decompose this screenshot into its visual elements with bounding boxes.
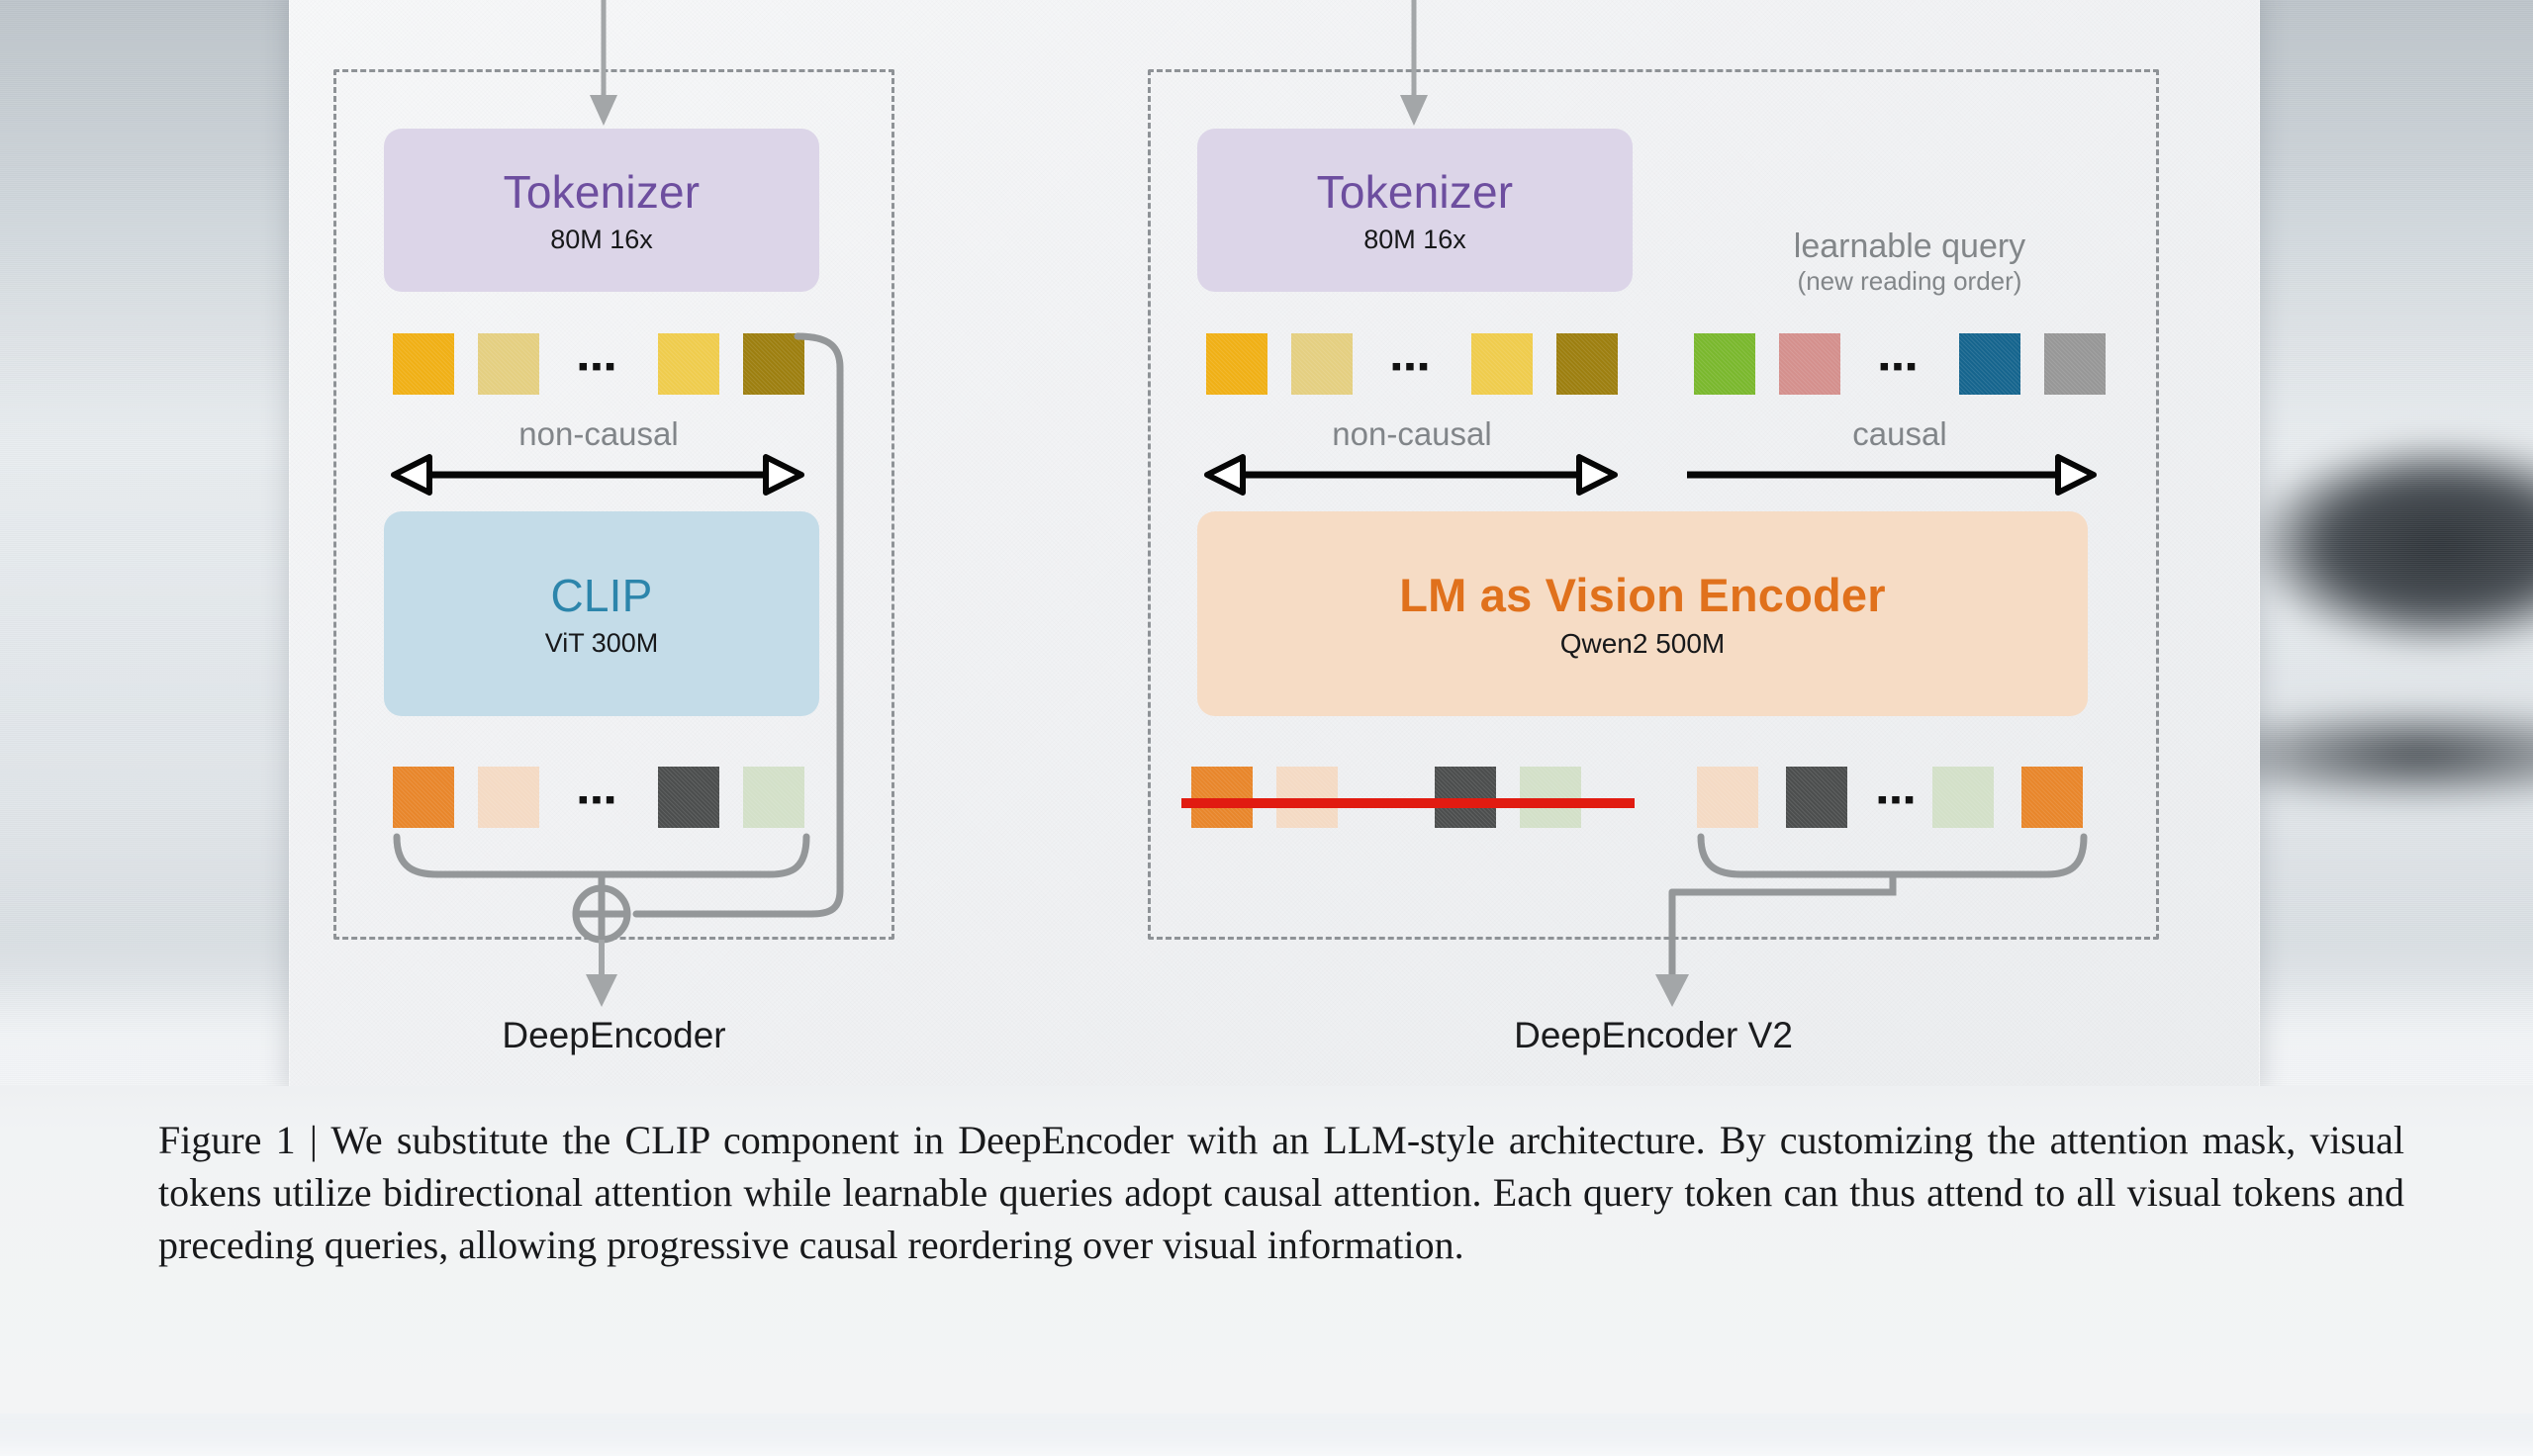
deepencoder-v2-noncausal-label: non-causal (1206, 415, 1618, 453)
kept-token-lightgreen (1932, 767, 1994, 828)
output-token-peach (478, 767, 539, 828)
query-token-pink (1779, 333, 1840, 395)
figure-caption-text: Figure 1 | We substitute the CLIP compon… (158, 1114, 2404, 1272)
input-token-amber (393, 333, 454, 395)
discarded-token-orange (1191, 767, 1253, 828)
query-token-gray (2044, 333, 2106, 395)
kept-token-peach (1697, 767, 1758, 828)
tokenizer-subtitle: 80M 16x (550, 225, 653, 255)
deepencoder-clip-box: CLIP ViT 300M (384, 511, 819, 716)
input-token-ellipsis: ▪▪▪ (1391, 352, 1432, 382)
output-token-orange (393, 767, 454, 828)
output-token-ellipsis: ▪▪▪ (578, 785, 618, 815)
query-token-ellipsis: ▪▪▪ (1879, 352, 1920, 382)
discarded-token-lightgreen (1520, 767, 1581, 828)
input-token-amber (1206, 333, 1267, 395)
kept-token-orange (2021, 767, 2083, 828)
figure-caption-band: Figure 1 | We substitute the CLIP compon… (0, 1086, 2533, 1413)
input-token-olive (1556, 333, 1618, 395)
deepencoder-panel-label: DeepEncoder (333, 1015, 894, 1056)
output-token-darkgray (658, 767, 719, 828)
learnable-query-line2: (new reading order) (1682, 266, 2137, 297)
kept-token-darkgray (1786, 767, 1847, 828)
lm-encoder-subtitle: Qwen2 500M (1560, 628, 1726, 660)
query-token-green (1694, 333, 1755, 395)
tokenizer-title: Tokenizer (504, 165, 701, 219)
tokenizer-subtitle: 80M 16x (1363, 225, 1466, 255)
clip-subtitle: ViT 300M (545, 628, 659, 659)
deepencoder-v2-encoder-box: LM as Vision Encoder Qwen2 500M (1197, 511, 2088, 716)
lm-encoder-title: LM as Vision Encoder (1399, 568, 1886, 622)
input-token-yellow (658, 333, 719, 395)
discarded-token-peach (1276, 767, 1338, 828)
input-token-khaki (478, 333, 539, 395)
deepencoder-v2-panel-label: DeepEncoder V2 (1148, 1015, 2159, 1056)
input-token-khaki (1291, 333, 1353, 395)
deepencoder-v2-causal-label: causal (1694, 415, 2106, 453)
learnable-query-line1: learnable query (1682, 227, 2137, 266)
deepencoder-v2-tokenizer-box: Tokenizer 80M 16x (1197, 129, 1633, 292)
kept-token-ellipsis: ▪▪▪ (1877, 785, 1918, 815)
learnable-query-label: learnable query (new reading order) (1682, 227, 2137, 297)
deepencoder-tokenizer-box: Tokenizer 80M 16x (384, 129, 819, 292)
output-token-lightgreen (743, 767, 804, 828)
input-token-yellow (1471, 333, 1533, 395)
tokenizer-title: Tokenizer (1317, 165, 1514, 219)
input-token-olive (743, 333, 804, 395)
discarded-token-darkgray (1435, 767, 1496, 828)
deepencoder-attention-label: non-causal (393, 415, 804, 453)
input-token-ellipsis: ▪▪▪ (578, 352, 618, 382)
query-token-teal (1959, 333, 2020, 395)
clip-title: CLIP (550, 569, 652, 622)
